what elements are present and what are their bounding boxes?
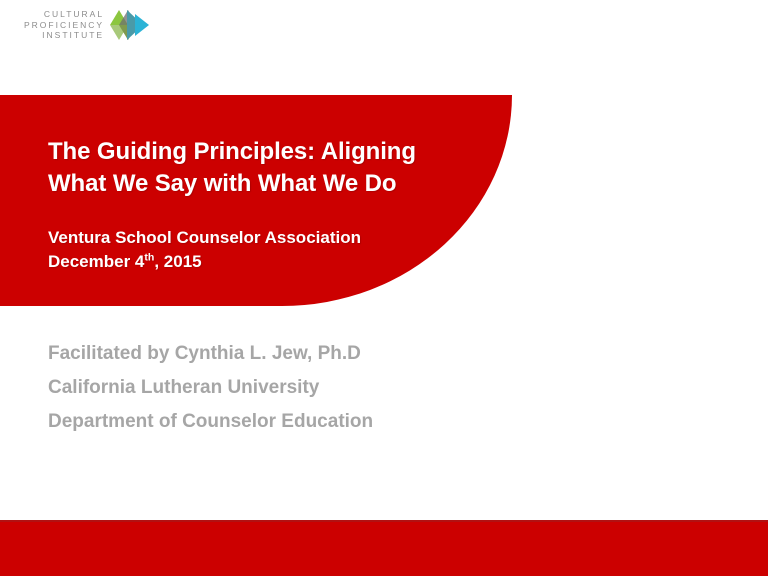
presenter-institution-line: California Lutheran University bbox=[48, 371, 568, 405]
hero-text-group: The Guiding Principles: Aligning What We… bbox=[48, 136, 468, 275]
presenter-name-line: Facilitated by Cynthia L. Jew, Ph.D bbox=[48, 337, 568, 371]
footer-red-bar: C RWIN A SAGE Company 25 YEARS bbox=[0, 520, 768, 576]
date-ordinal-suffix: th bbox=[144, 252, 154, 264]
triangles-arrow-icon bbox=[110, 8, 150, 42]
slide-title-line-1: The Guiding Principles: Aligning bbox=[48, 136, 468, 168]
logo-line-institute: INSTITUTE bbox=[42, 30, 104, 41]
logo-line-cultural: CULTURAL bbox=[44, 9, 104, 20]
hero-red-panel: The Guiding Principles: Aligning What We… bbox=[0, 95, 512, 306]
presenter-department-line: Department of Counselor Education bbox=[48, 405, 568, 439]
slide-subtitle-organization: Ventura School Counselor Association bbox=[48, 226, 468, 250]
title-subtitle-spacer bbox=[48, 199, 468, 226]
cultural-proficiency-institute-logo: CULTURAL PROFICIENCY INSTITUTE bbox=[24, 8, 150, 42]
logo-line-proficiency: PROFICIENCY bbox=[24, 20, 104, 31]
logo-wordmark: CULTURAL PROFICIENCY INSTITUTE bbox=[24, 9, 104, 42]
slide-title-line-2: What We Say with What We Do bbox=[48, 168, 468, 200]
slide-subtitle-date: December 4th, 2015 bbox=[48, 250, 468, 274]
slide-canvas: CULTURAL PROFICIENCY INSTITUTE The Guidi… bbox=[0, 0, 768, 576]
date-prefix: December 4 bbox=[48, 252, 144, 271]
presenter-credits: Facilitated by Cynthia L. Jew, Ph.D Cali… bbox=[48, 337, 568, 438]
date-year: , 2015 bbox=[154, 252, 201, 271]
